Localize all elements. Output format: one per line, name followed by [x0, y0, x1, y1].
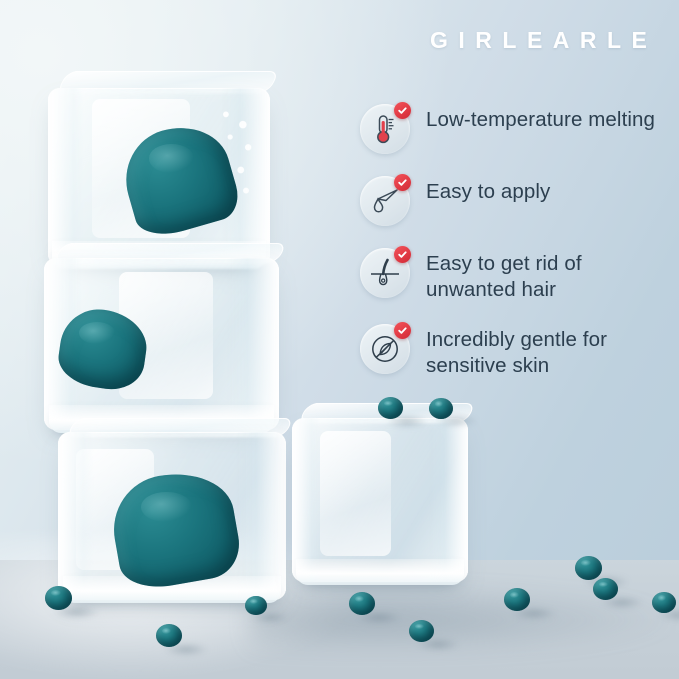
wax-blob-body: [114, 115, 244, 242]
cube-left-edge: [292, 418, 320, 582]
ice-cube-top: [48, 88, 270, 266]
ice-cube-right: [292, 418, 468, 582]
wax-blob-body: [55, 304, 151, 393]
feature-label: Incredibly gentle for sensitive skin: [426, 323, 672, 378]
wax-blob-highlight: [149, 144, 194, 173]
icon-wrapper: [360, 176, 410, 226]
cube-right-edge: [236, 432, 286, 600]
wax-blob-highlight: [141, 492, 192, 523]
icon-wrapper: [360, 324, 410, 374]
feature-item-remove-unwanted-hair: Easy to get rid of unwanted hair: [360, 247, 672, 302]
ice-cube-bottom: [58, 432, 286, 600]
wax-bead: [156, 624, 182, 647]
wax-blob-body: [105, 464, 244, 594]
check-badge-icon: [394, 102, 411, 119]
feature-item-gentle-sensitive-skin: Incredibly gentle for sensitive skin: [360, 323, 672, 378]
feature-item-low-temperature-melting: Low-temperature melting: [360, 103, 672, 154]
cube-right-edge: [429, 418, 468, 582]
wax-bead: [429, 398, 453, 419]
cube-left-edge: [58, 432, 94, 600]
brand-wordmark: GIRLEARLE: [430, 27, 657, 54]
ice-cube-middle: [44, 258, 279, 430]
wax-bead: [593, 578, 618, 600]
cube-inner-reflection: [320, 431, 390, 556]
cube-left-edge: [48, 88, 84, 266]
check-badge-icon: [394, 322, 411, 339]
teal-wax-blob-bottom: [114, 474, 236, 584]
teal-wax-blob-middle: [60, 310, 146, 388]
wax-bead: [409, 620, 434, 642]
feature-list: Low-temperature melting Easy to apply: [360, 103, 672, 400]
wax-bead: [575, 556, 602, 580]
wax-bead: [45, 586, 72, 610]
check-badge-icon: [394, 246, 411, 263]
check-badge-icon: [394, 174, 411, 191]
icon-wrapper: [360, 248, 410, 298]
wax-bead: [652, 592, 676, 613]
feature-label: Low-temperature melting: [426, 103, 655, 133]
icon-wrapper: [360, 104, 410, 154]
product-marketing-image: GIRLEARLE: [0, 0, 679, 679]
feature-label: Easy to get rid of unwanted hair: [426, 247, 672, 302]
teal-wax-blob-top: [126, 128, 232, 230]
cube-right-edge: [227, 258, 279, 430]
wax-bead: [504, 588, 530, 611]
wax-bead: [378, 397, 403, 419]
cube-base-edge: [296, 559, 465, 585]
wax-bead: [349, 592, 375, 615]
feature-label: Easy to apply: [426, 175, 550, 205]
feature-item-easy-to-apply: Easy to apply: [360, 175, 672, 226]
